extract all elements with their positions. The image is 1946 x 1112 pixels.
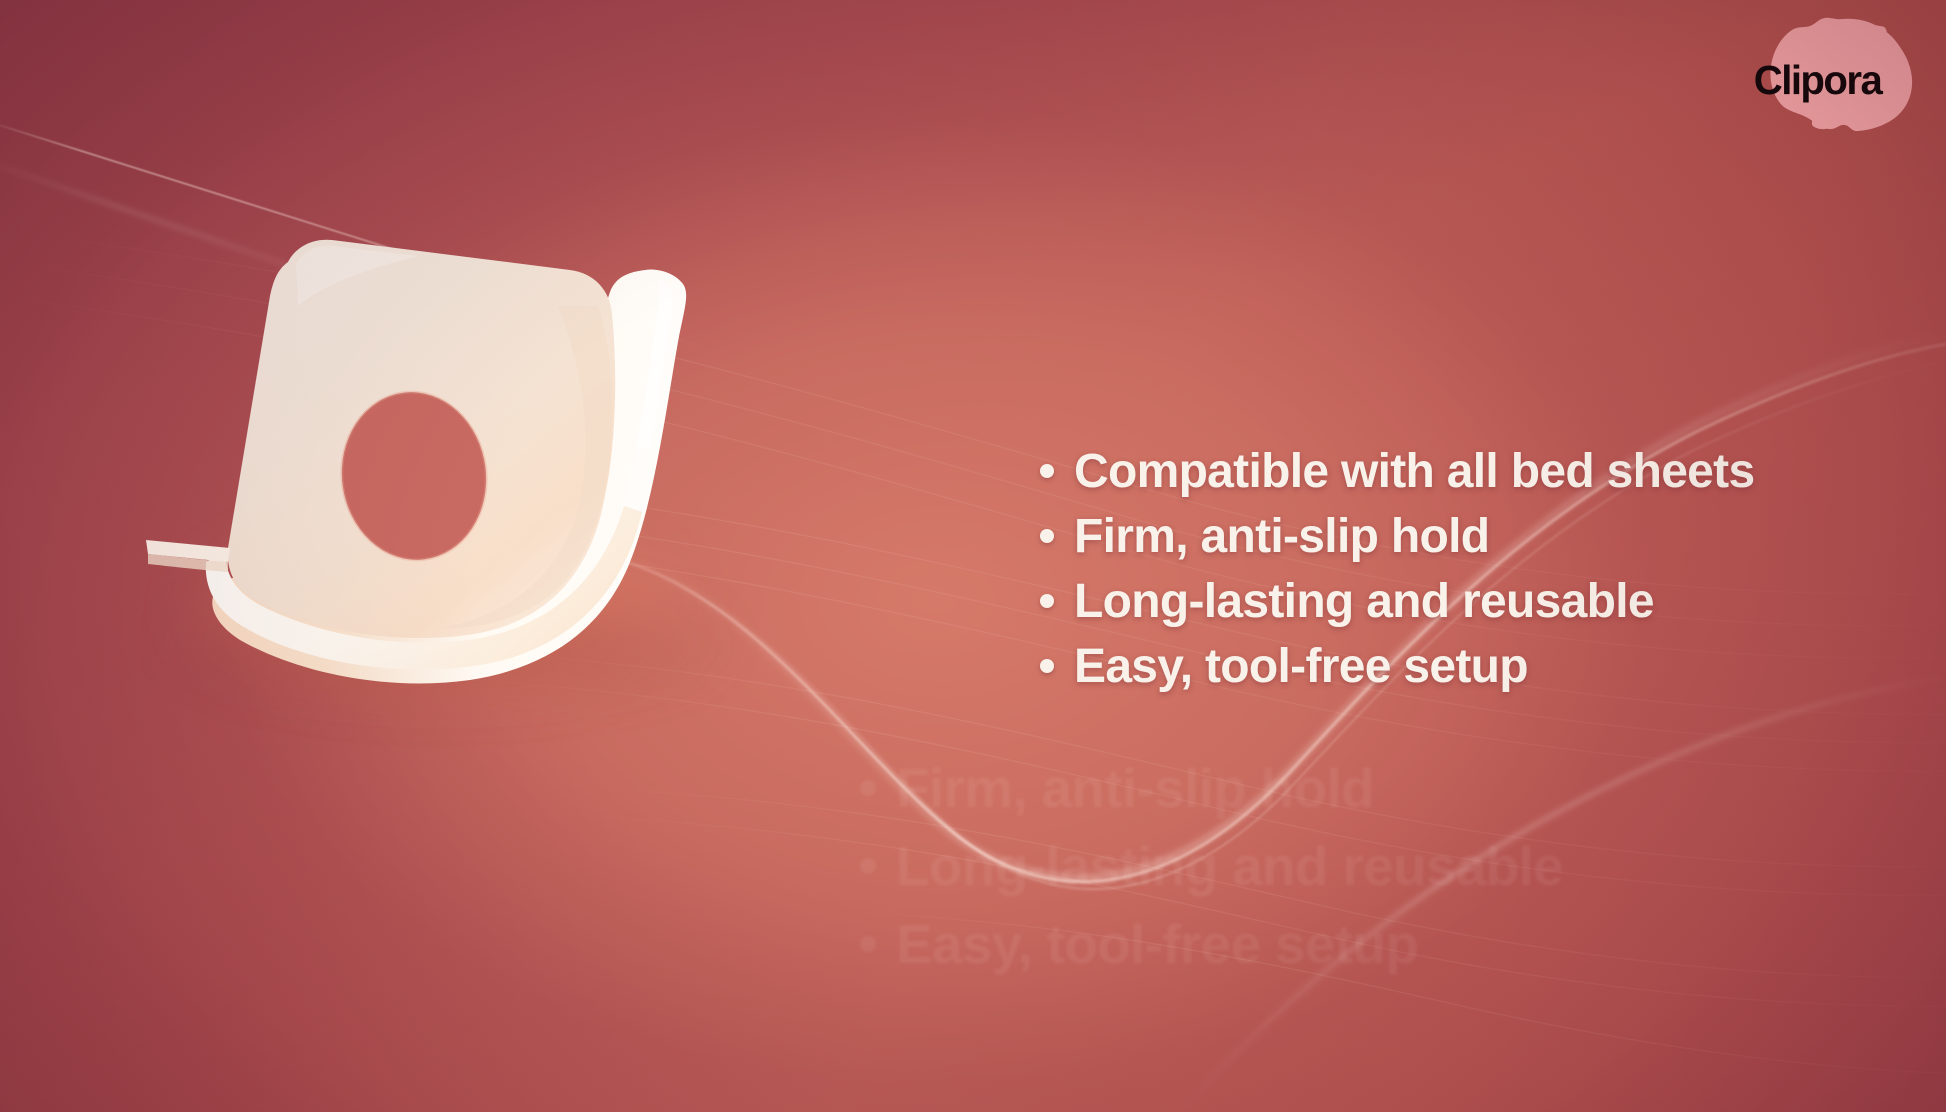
bullet-dot-icon <box>860 780 876 796</box>
bullet-dot-icon <box>860 936 876 952</box>
feature-list-item-4: Easy, tool-free setup <box>1040 643 1920 692</box>
bullet-dot-icon <box>1040 659 1054 673</box>
feature-list-item-1: Compatible with all bed sheets <box>1040 448 1920 497</box>
product-shadow <box>158 582 738 702</box>
feature-label: Compatible with all bed sheets <box>1074 448 1754 497</box>
ghost-list-item-label: Firm, anti-slip hold <box>896 760 1374 816</box>
product-feature-slide: Clipora Firm, anti-slip hold Long-lastin… <box>0 0 1946 1112</box>
ghost-list-item-label: Long-lasting and reusable <box>896 838 1563 894</box>
product-glow <box>178 510 698 710</box>
circular-cutout-icon <box>332 384 495 568</box>
ghost-list-item-label: Easy, tool-free setup <box>896 916 1418 972</box>
feature-label: Easy, tool-free setup <box>1074 643 1528 692</box>
light-streak-primary <box>0 118 705 348</box>
light-streak-secondary <box>0 150 490 337</box>
ghost-list-item: Long-lasting and reusable <box>860 838 1840 894</box>
bed-sheet-clip-illustration <box>118 210 798 710</box>
ghost-list-item: Firm, anti-slip hold <box>860 760 1840 816</box>
feature-list-item-2: Firm, anti-slip hold <box>1040 513 1920 562</box>
bullet-dot-icon <box>1040 594 1054 608</box>
clip-tab <box>146 540 230 562</box>
feature-label: Long-lasting and reusable <box>1074 578 1654 627</box>
product-image <box>118 210 798 710</box>
feature-list-item-3: Long-lasting and reusable <box>1040 578 1920 627</box>
brand-wordmark: Clipora <box>1754 60 1928 101</box>
ghost-list-item: Easy, tool-free setup <box>860 916 1840 972</box>
brand-logo[interactable]: Clipora <box>1766 16 1916 134</box>
ghost-feature-list: Firm, anti-slip hold Long-lasting and re… <box>860 760 1840 994</box>
bullet-dot-icon <box>1040 464 1054 478</box>
bullet-dot-icon <box>1040 529 1054 543</box>
bullet-dot-icon <box>860 858 876 874</box>
feature-list: Compatible with all bed sheets Firm, ant… <box>1040 448 1920 708</box>
feature-label: Firm, anti-slip hold <box>1074 513 1489 562</box>
